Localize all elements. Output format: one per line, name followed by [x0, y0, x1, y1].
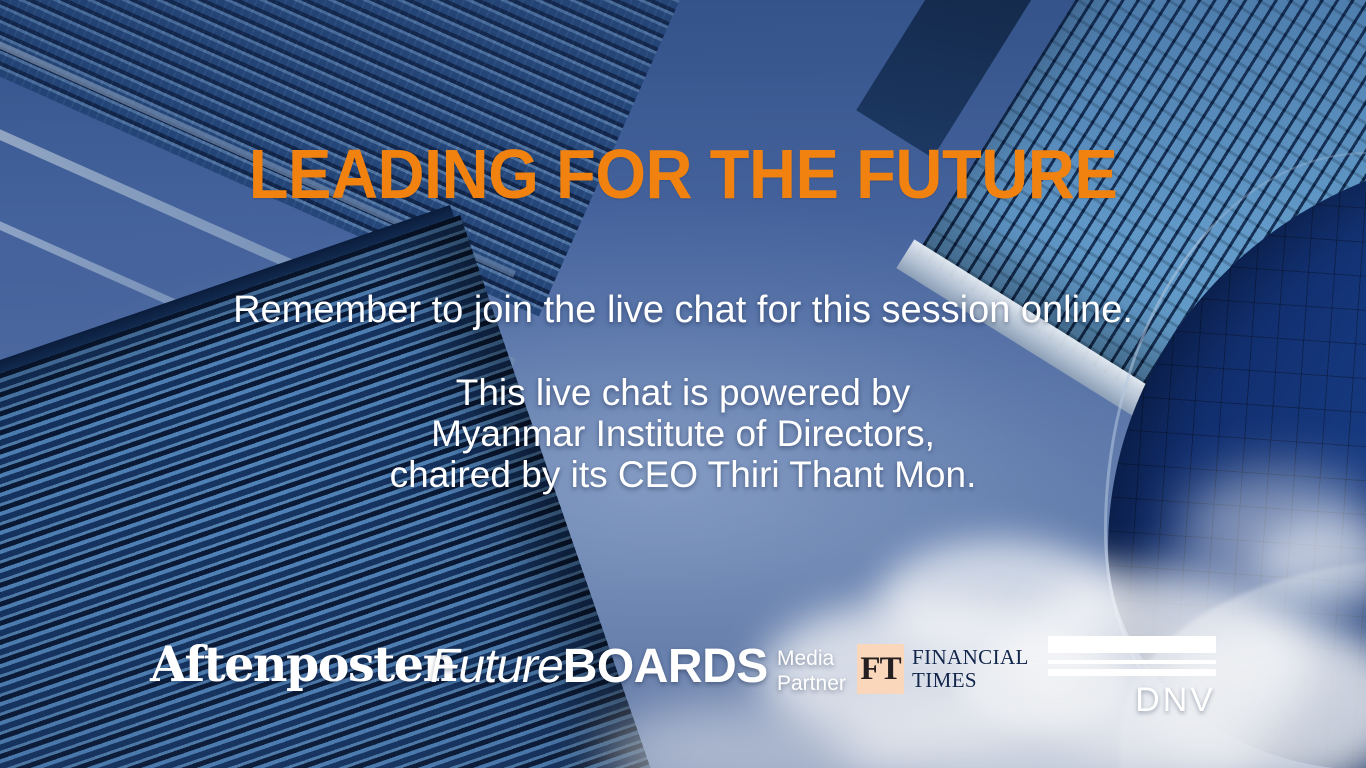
- paragraph-line-3: chaired by its CEO Thiri Thant Mon.: [0, 454, 1366, 495]
- paragraph-line-1: This live chat is powered by: [0, 372, 1366, 413]
- presentation-slide: LEADING FOR THE FUTURE Remember to join …: [0, 0, 1366, 768]
- financial-times-word-1: FINANCIAL: [912, 646, 1029, 669]
- paragraph-block: This live chat is powered by Myanmar Ins…: [0, 372, 1366, 495]
- future-boards-word-boards: BOARDS: [563, 640, 768, 693]
- dnv-bar-medium-icon: [1048, 669, 1216, 676]
- financial-times-logo: FT FINANCIAL TIMES: [857, 644, 1029, 694]
- financial-times-wordmark: FINANCIAL TIMES: [912, 646, 1029, 692]
- intro-line: Remember to join the live chat for this …: [0, 288, 1366, 334]
- paragraph-line-2: Myanmar Institute of Directors,: [0, 413, 1366, 454]
- dnv-bar-thick-icon: [1048, 636, 1216, 653]
- dnv-wordmark: DNV: [1048, 682, 1216, 718]
- media-partner-label: Media Partner: [777, 646, 846, 696]
- media-partner-line-1: Media: [777, 646, 846, 671]
- media-partner-line-2: Partner: [777, 671, 846, 696]
- aftenposten-logo: Aftenposten: [150, 636, 456, 692]
- dnv-logo: DNV: [1048, 636, 1216, 718]
- future-boards-word-future: Future: [430, 640, 563, 693]
- financial-times-word-2: TIMES: [912, 669, 1029, 692]
- dnv-gap-1: [1048, 653, 1216, 660]
- financial-times-mark-icon: FT: [857, 644, 904, 694]
- future-boards-logo: FutureBOARDS: [430, 641, 768, 693]
- slide-content: LEADING FOR THE FUTURE Remember to join …: [0, 0, 1366, 768]
- sponsor-logo-row: Aftenposten FutureBOARDS Media Partner F…: [0, 628, 1366, 768]
- slide-title: LEADING FOR THE FUTURE: [48, 139, 1318, 209]
